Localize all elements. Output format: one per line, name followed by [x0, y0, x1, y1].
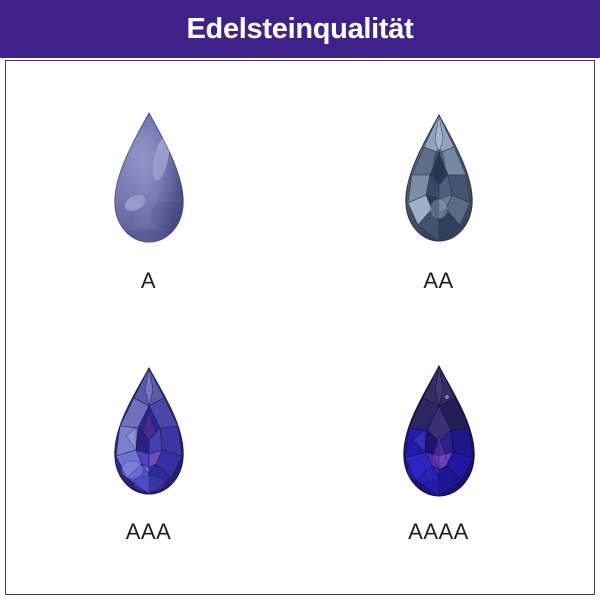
- grade-label-aaaa: AAAA: [408, 521, 469, 543]
- pear-faceted-icon: [109, 366, 189, 496]
- page-title: Edelsteinqualität: [187, 15, 414, 44]
- gem-grid: A: [6, 61, 594, 594]
- grade-label-aaa: AAA: [126, 521, 172, 543]
- gem-cell-a: A: [1, 61, 296, 328]
- gemstone-quality-card: Edelsteinqualität: [0, 0, 600, 600]
- content-frame: A: [5, 60, 595, 595]
- gem-image-aaaa: [396, 361, 482, 501]
- pear-faceted-icon: [400, 113, 478, 243]
- gem-cell-aa: AA: [291, 61, 586, 328]
- grade-label-a: A: [141, 270, 156, 292]
- gem-image-a: [106, 108, 192, 248]
- pear-faceted-icon: [398, 364, 480, 498]
- gem-cell-aaaa: AAAA: [291, 319, 586, 586]
- gem-cell-aaa: AAA: [1, 319, 296, 586]
- grade-label-aa: AA: [423, 270, 453, 292]
- gem-image-aa: [396, 108, 482, 248]
- gem-image-aaa: [106, 361, 192, 501]
- header-bar: Edelsteinqualität: [0, 0, 600, 58]
- pear-cabochon-icon: [109, 111, 189, 245]
